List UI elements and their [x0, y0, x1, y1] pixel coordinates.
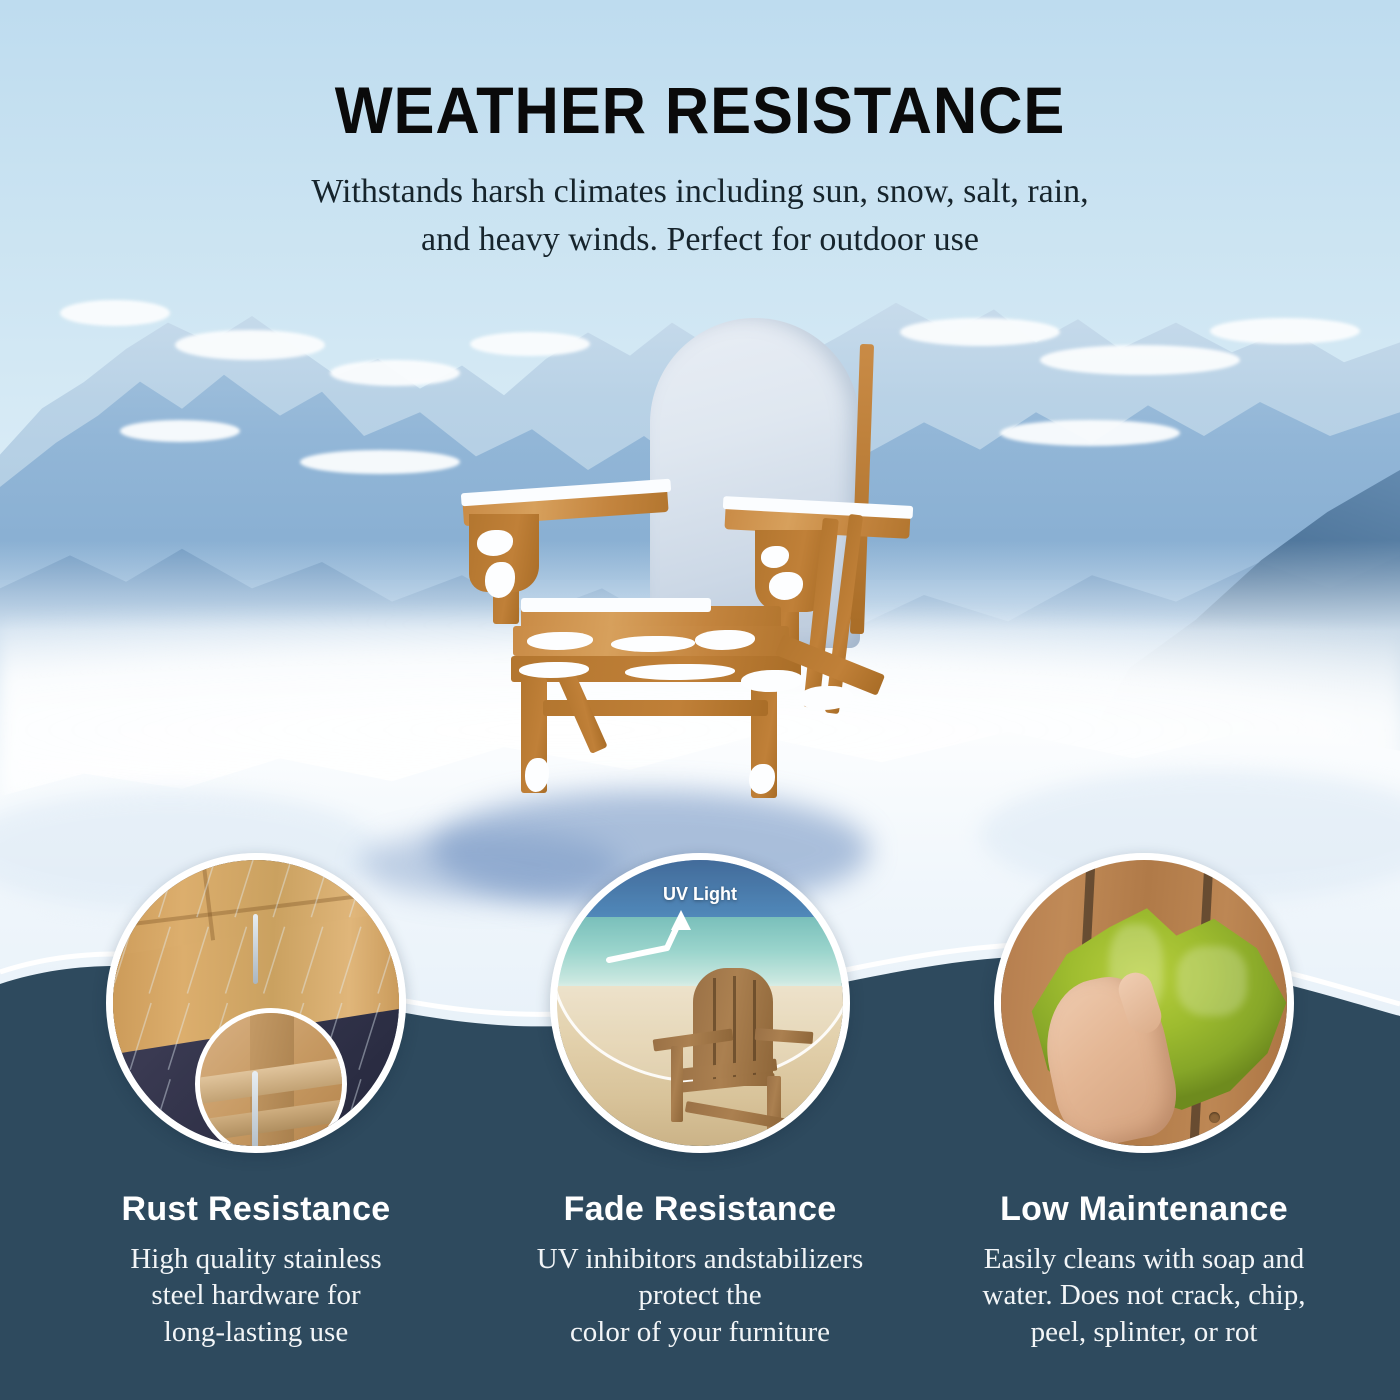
- feature-title-fade-resistance: Fade Resistance: [490, 1190, 910, 1229]
- page-subtitle-line-2: and heavy winds. Perfect for outdoor use: [0, 216, 1400, 264]
- feature-desc-line-2: protect the: [638, 1279, 761, 1311]
- inset-chain: [252, 1071, 258, 1153]
- uv-light-label: UV Light: [557, 884, 843, 905]
- hardware-chain: [253, 914, 258, 984]
- feature-desc-line-1: UV inhibitors andstabilizers: [537, 1243, 863, 1275]
- feature-text-fade-resistance: Fade Resistance UV inhibitors andstabili…: [490, 1190, 910, 1350]
- chain-closeup-inset: [195, 1008, 347, 1153]
- feature-description-fade-resistance: UV inhibitors andstabilizers protect the…: [490, 1241, 910, 1350]
- page-title: WEATHER RESISTANCE: [49, 72, 1351, 148]
- beach-adirondack-chair: [651, 968, 816, 1143]
- feature-desc-line-2: water. Does not crack, chip,: [983, 1279, 1306, 1311]
- feature-text-low-maintenance: Low Maintenance Easily cleans with soap …: [934, 1190, 1354, 1350]
- snow-cap: [1040, 345, 1240, 375]
- feature-description-low-maintenance: Easily cleans with soap and water. Does …: [934, 1241, 1354, 1350]
- feature-image-rust-resistance: [106, 853, 406, 1153]
- low-maintenance-photo: [1001, 860, 1287, 1146]
- snow-cap: [175, 330, 325, 360]
- snow-cap: [60, 300, 170, 326]
- chair2-leg-right: [767, 1076, 781, 1138]
- snow-fleck: [799, 686, 853, 710]
- feature-image-fade-resistance: UV Light: [550, 853, 850, 1153]
- chair2-leg-left: [671, 1046, 683, 1122]
- page-subtitle-line-1: Withstands harsh climates including sun,…: [0, 168, 1400, 216]
- snow-cap: [120, 420, 240, 442]
- feature-image-low-maintenance: [994, 853, 1294, 1153]
- feature-description-rust-resistance: High quality stainless steel hardware fo…: [46, 1241, 466, 1350]
- screw-head-icon: [1209, 1112, 1220, 1123]
- rust-resistance-photo: [113, 860, 399, 1146]
- uv-arrow-icon: [605, 908, 725, 974]
- feature-desc-line-3: color of your furniture: [570, 1316, 830, 1348]
- feature-image-row: UV Light: [0, 853, 1400, 1163]
- feature-desc-line-2: steel hardware for: [151, 1279, 360, 1311]
- fade-resistance-photo: UV Light: [557, 860, 843, 1146]
- snow-cap: [300, 450, 460, 474]
- snow-cap: [330, 360, 460, 386]
- infographic-root: WEATHER RESISTANCE Withstands harsh clim…: [0, 0, 1400, 1400]
- feature-desc-line-1: Easily cleans with soap and: [984, 1243, 1305, 1275]
- feature-text-rust-resistance: Rust Resistance High quality stainless s…: [46, 1190, 466, 1350]
- feature-desc-line-3: long-lasting use: [164, 1316, 348, 1348]
- adirondack-chair-snow: [455, 318, 925, 788]
- snow-fleck: [741, 670, 803, 692]
- snow-cap: [1210, 318, 1360, 344]
- snow-cap: [1000, 420, 1180, 446]
- cloth-fold-highlight: [1177, 946, 1247, 1016]
- page-subtitle: Withstands harsh climates including sun,…: [0, 168, 1400, 265]
- feature-title-low-maintenance: Low Maintenance: [934, 1190, 1354, 1229]
- chair-seat-snow: [521, 598, 711, 612]
- feature-desc-line-1: High quality stainless: [130, 1243, 381, 1275]
- feature-desc-line-3: peel, splinter, or rot: [1031, 1316, 1258, 1348]
- feature-title-rust-resistance: Rust Resistance: [46, 1190, 466, 1229]
